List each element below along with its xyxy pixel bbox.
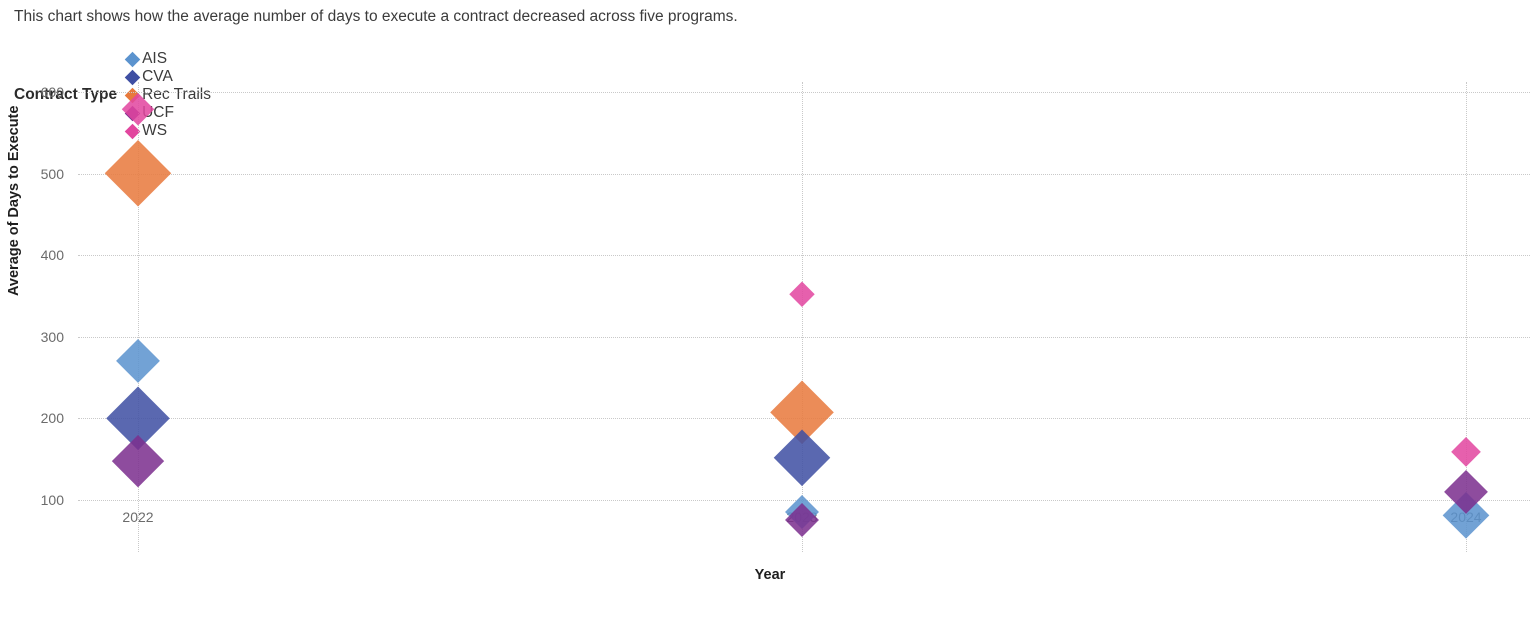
y-axis-tick: 500 bbox=[4, 166, 64, 182]
gridline-horizontal bbox=[78, 337, 1530, 338]
data-point-ais-2022[interactable] bbox=[116, 339, 160, 383]
y-axis-tick: 200 bbox=[4, 410, 64, 426]
data-point-cva-2023[interactable] bbox=[774, 429, 831, 486]
data-point-ws-2023[interactable] bbox=[790, 282, 815, 307]
data-point-rec-trails-2022[interactable] bbox=[105, 140, 171, 206]
y-axis-tick: 300 bbox=[4, 329, 64, 345]
plot-area: 100200300400500600202220232024 bbox=[78, 92, 1530, 500]
data-point-ucf-2022[interactable] bbox=[112, 435, 164, 487]
gridline-horizontal bbox=[78, 174, 1530, 175]
gridline-horizontal bbox=[78, 255, 1530, 256]
x-axis-label: Year bbox=[0, 567, 1540, 583]
scatter-plot: Average of Days to Execute Year 10020030… bbox=[0, 0, 1540, 621]
y-axis-tick: 400 bbox=[4, 247, 64, 263]
y-axis-tick: 600 bbox=[4, 84, 64, 100]
y-axis-tick: 100 bbox=[4, 492, 64, 508]
data-point-ws-2022[interactable] bbox=[122, 93, 154, 125]
x-axis-tick: 2022 bbox=[78, 509, 198, 525]
data-point-ws-2024[interactable] bbox=[1451, 437, 1481, 467]
gridline-horizontal bbox=[78, 92, 1530, 93]
y-axis-label: Average of Days to Execute bbox=[6, 106, 22, 296]
